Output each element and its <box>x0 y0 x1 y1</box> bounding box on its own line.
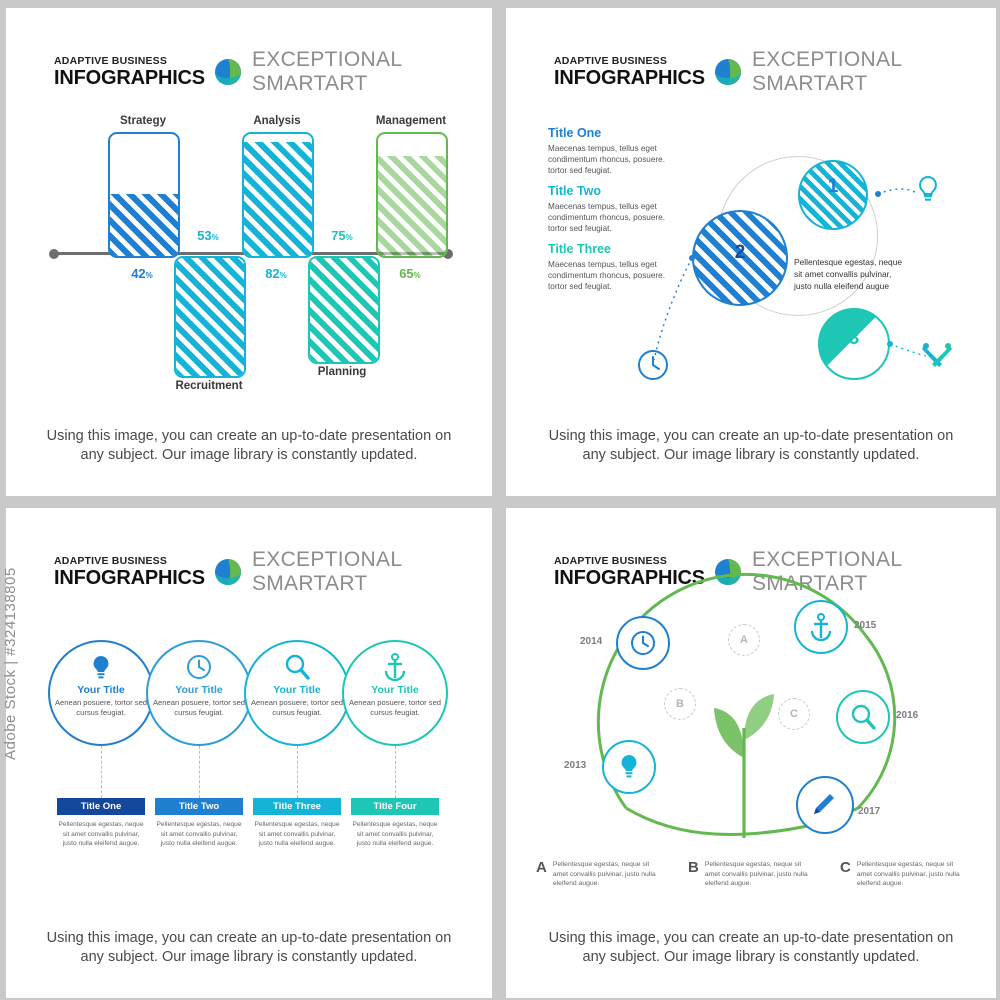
brand-line2: INFOGRAPHICS <box>54 68 205 88</box>
globe-icon <box>214 58 242 86</box>
clock-icon <box>186 654 212 680</box>
bar-value-recruitment: 53% <box>174 228 242 243</box>
slide-circle-diagram: ADAPTIVE BUSINESS INFOGRAPHICS EXCEPTION… <box>506 8 996 496</box>
legend-letter: A <box>536 860 547 875</box>
brand-text: ADAPTIVE BUSINESS INFOGRAPHICS <box>54 556 205 588</box>
label-bar-4: Title Four <box>351 798 439 815</box>
legend-a: A Pellentesque egestas, neque sit amet c… <box>536 860 661 889</box>
item-title: Title Two <box>548 184 668 198</box>
bar-value-analysis: 82% <box>242 266 310 281</box>
bar-label-planning: Planning <box>287 366 397 378</box>
slide2-paragraph: Pellentesque egestas, neque sit amet con… <box>794 256 904 293</box>
step-body-3: Aenean posuere, tortor sed cursus feugia… <box>248 698 346 719</box>
bar-label-analysis: Analysis <box>222 115 332 127</box>
step-title-2: Your Title <box>146 684 252 696</box>
bar-planning <box>308 256 380 364</box>
brand-line2: INFOGRAPHICS <box>554 68 705 88</box>
brand-line2: INFOGRAPHICS <box>54 568 205 588</box>
step-body-2: Aenean posuere, tortor sed cursus feugia… <box>150 698 248 719</box>
step-body-1: Aenean posuere, tortor sed cursus feugia… <box>52 698 150 719</box>
bar-chart: Strategy 42% 53% Recruitment Analysis 82… <box>46 118 456 398</box>
label-desc-4: Pellentesque egestas, neque sit amet con… <box>349 820 441 849</box>
slide-timeline-tree: ADAPTIVE BUSINESS INFOGRAPHICS EXCEPTION… <box>506 508 996 998</box>
clock-icon <box>636 348 670 382</box>
bar-value-strategy: 42% <box>108 266 176 281</box>
bar-value-planning: 75% <box>308 228 376 243</box>
clock-icon <box>630 630 656 656</box>
bar-label-strategy: Strategy <box>88 115 198 127</box>
smartart-title: EXCEPTIONAL SMARTART <box>252 548 468 596</box>
lightbulb-icon <box>88 654 114 682</box>
slide3-footer: Using this image, you can create an up-t… <box>42 929 456 968</box>
label-bar-2: Title Two <box>155 798 243 815</box>
legend-text: Pellentesque egestas, neque sit amet con… <box>857 860 965 889</box>
ghost-node-b: B <box>664 688 696 720</box>
item-title: Title Three <box>548 242 668 256</box>
legend-letter: B <box>688 860 699 875</box>
ghost-node-a: A <box>728 624 760 656</box>
brand-line1: ADAPTIVE BUSINESS <box>54 56 205 67</box>
globe-icon <box>214 558 242 586</box>
node-year-2013: 2013 <box>564 760 586 771</box>
smartart-title: EXCEPTIONAL SMARTART <box>752 48 972 96</box>
lightbulb-icon <box>914 174 942 204</box>
step-title-4: Your Title <box>342 684 448 696</box>
node-year-2017: 2017 <box>858 806 880 817</box>
bubble-1-number: 1 <box>798 176 868 198</box>
brand-text: ADAPTIVE BUSINESS INFOGRAPHICS <box>554 56 705 88</box>
slide2-footer: Using this image, you can create an up-t… <box>542 427 960 466</box>
label-desc-1: Pellentesque egestas, neque sit amet con… <box>55 820 147 849</box>
label-desc-2: Pellentesque egestas, neque sit amet con… <box>153 820 245 849</box>
slide2-header: ADAPTIVE BUSINESS INFOGRAPHICS EXCEPTION… <box>554 48 972 96</box>
step-title-3: Your Title <box>244 684 350 696</box>
slide-four-steps: ADAPTIVE BUSINESS INFOGRAPHICS EXCEPTION… <box>6 508 492 998</box>
label-bar-3: Title Three <box>253 798 341 815</box>
brand-line1: ADAPTIVE BUSINESS <box>554 56 705 67</box>
slide-bar-chart: ADAPTIVE BUSINESS INFOGRAPHICS EXCEPTION… <box>6 8 492 496</box>
watermark: Adobe Stock | #324138805 <box>2 567 19 760</box>
bar-planning-fill <box>310 258 378 362</box>
bar-recruitment-fill <box>176 258 244 376</box>
globe-icon <box>714 58 742 86</box>
smartart-title: EXCEPTIONAL SMARTART <box>252 48 468 96</box>
legend-b: B Pellentesque egestas, neque sit amet c… <box>688 860 813 889</box>
item-body: Maecenas tempus, tellus eget condimentum… <box>548 143 668 176</box>
label-bar-1: Title One <box>57 798 145 815</box>
node-year-2014: 2014 <box>580 636 602 647</box>
ghost-node-c: C <box>778 698 810 730</box>
bar-analysis-fill <box>244 142 312 256</box>
bar-recruitment <box>174 256 246 378</box>
brand-line1: ADAPTIVE BUSINESS <box>54 556 205 567</box>
bar-value-management: 65% <box>376 266 444 281</box>
connector-4 <box>395 746 396 798</box>
bar-strategy-fill <box>110 194 178 256</box>
slide1-footer: Using this image, you can create an up-t… <box>42 427 456 466</box>
node-year-2015: 2015 <box>854 620 876 631</box>
pencil-icon <box>810 790 838 818</box>
bar-management-fill <box>378 156 446 256</box>
slide2-item-1: Title One Maecenas tempus, tellus eget c… <box>548 126 668 176</box>
legend-text: Pellentesque egestas, neque sit amet con… <box>553 860 661 889</box>
step-body-4: Aenean posuere, tortor sed cursus feugia… <box>346 698 444 719</box>
legend-text: Pellentesque egestas, neque sit amet con… <box>705 860 813 889</box>
tree-graphic <box>506 508 996 888</box>
anchor-icon <box>809 613 833 641</box>
bubble-2-number: 2 <box>692 242 788 264</box>
bar-management <box>376 132 448 258</box>
item-title: Title One <box>548 126 668 140</box>
bubble-3-number: 3 <box>818 328 890 350</box>
slide1-header: ADAPTIVE BUSINESS INFOGRAPHICS EXCEPTION… <box>54 48 468 96</box>
search-icon <box>284 653 310 681</box>
connector-3 <box>297 746 298 798</box>
lightbulb-icon <box>616 753 642 781</box>
connector-1 <box>101 746 102 798</box>
slide3-header: ADAPTIVE BUSINESS INFOGRAPHICS EXCEPTION… <box>54 548 468 596</box>
anchor-icon <box>382 653 408 681</box>
legend-letter: C <box>840 860 851 875</box>
bar-strategy <box>108 132 180 258</box>
node-year-2016: 2016 <box>896 710 918 721</box>
item-body: Maecenas tempus, tellus eget condimentum… <box>548 259 668 292</box>
slide2-item-2: Title Two Maecenas tempus, tellus eget c… <box>548 184 668 234</box>
step-title-1: Your Title <box>48 684 154 696</box>
bar-analysis <box>242 132 314 258</box>
tools-icon <box>918 338 956 376</box>
item-body: Maecenas tempus, tellus eget condimentum… <box>548 201 668 234</box>
connector-2 <box>199 746 200 798</box>
bar-label-management: Management <box>356 115 466 127</box>
label-desc-3: Pellentesque egestas, neque sit amet con… <box>251 820 343 849</box>
brand-text: ADAPTIVE BUSINESS INFOGRAPHICS <box>54 56 205 88</box>
slide4-footer: Using this image, you can create an up-t… <box>542 929 960 968</box>
search-icon <box>850 703 876 731</box>
legend-c: C Pellentesque egestas, neque sit amet c… <box>840 860 965 889</box>
bar-label-recruitment: Recruitment <box>154 380 264 392</box>
slide2-item-3: Title Three Maecenas tempus, tellus eget… <box>548 242 668 292</box>
